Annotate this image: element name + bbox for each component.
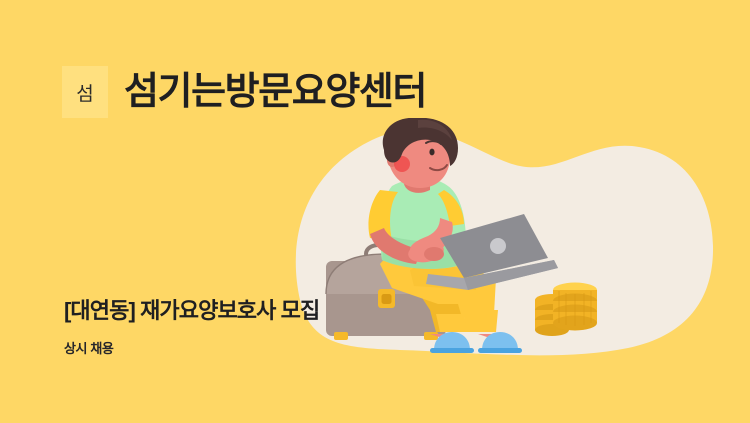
company-name: 섬기는방문요양센터 — [124, 73, 426, 111]
hiring-status: 상시 채용 — [64, 338, 319, 357]
shoes-graphic — [430, 332, 522, 353]
posting-copy: [대연동] 재가요양보호사 모집 상시 채용 — [64, 297, 319, 358]
job-title: [대연동] 재가요양보호사 모집 — [64, 297, 319, 325]
coin-stack-graphic — [535, 283, 597, 337]
job-posting-banner: 섬 섬기는방문요양센터 — [0, 0, 750, 423]
illustration-man-with-laptop — [318, 118, 618, 358]
company-logo-badge: 섬 — [62, 66, 108, 118]
head-graphic — [383, 118, 458, 193]
brand-header: 섬 섬기는방문요양센터 — [62, 66, 426, 118]
